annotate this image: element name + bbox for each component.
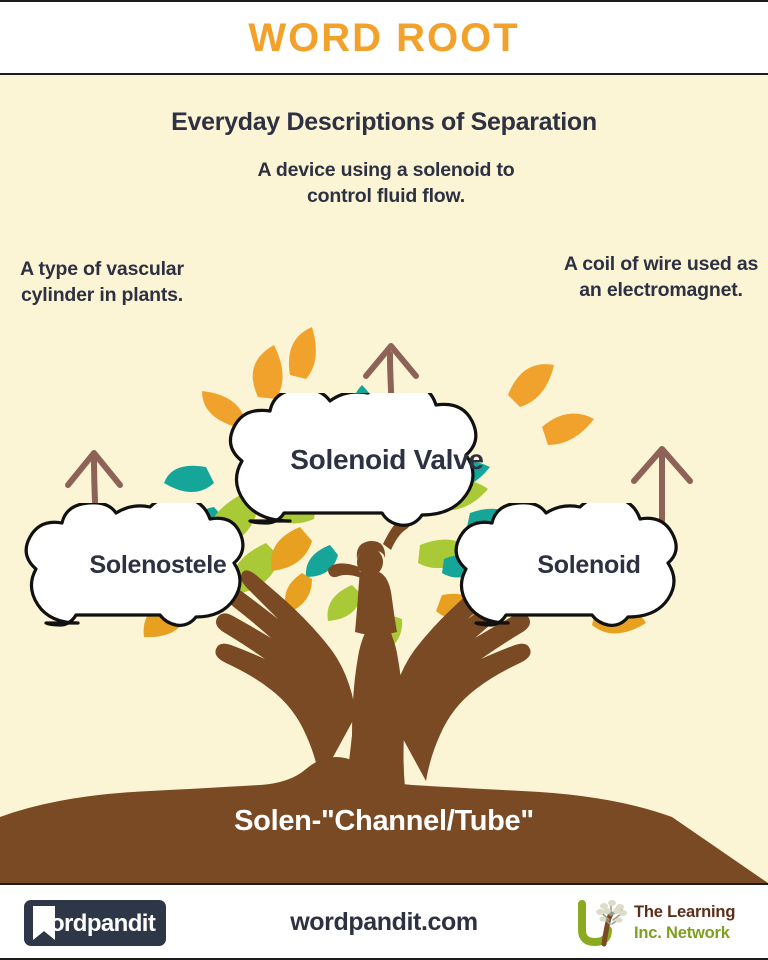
cloud-solenostele[interactable]: Solenostele (22, 503, 294, 631)
tln-logo-text: The Learning Inc. Network (634, 902, 735, 943)
cloud-label-right: Solenoid (450, 551, 728, 580)
page-title: WORD ROOT (248, 18, 519, 58)
description-center: A device using a solenoid to control flu… (236, 158, 536, 210)
tln-tree-icon (574, 900, 630, 948)
cloud-label-center: Solenoid Valve (228, 444, 546, 476)
root-label: Solen-"Channel/Tube" (0, 805, 768, 838)
infographic-poster: WORD ROOT Everyday Descriptions of Separ… (0, 0, 768, 960)
cloud-solenoid[interactable]: Solenoid (450, 503, 728, 631)
infographic-canvas: Everyday Descriptions of Separation (0, 75, 768, 883)
tln-line-1: The Learning (634, 902, 735, 923)
the-learning-inc-network-logo[interactable]: The Learning Inc. Network (574, 898, 752, 950)
cloud-label-left: Solenostele (22, 551, 294, 580)
footer-band: ordpandit wordpandit.com (0, 883, 768, 960)
header-band: WORD ROOT (0, 0, 768, 75)
description-right: A coil of wire used as an electromagnet. (552, 252, 768, 304)
tln-line-2: Inc. Network (634, 923, 735, 944)
description-left: A type of vascular cylinder in plants. (0, 257, 216, 309)
